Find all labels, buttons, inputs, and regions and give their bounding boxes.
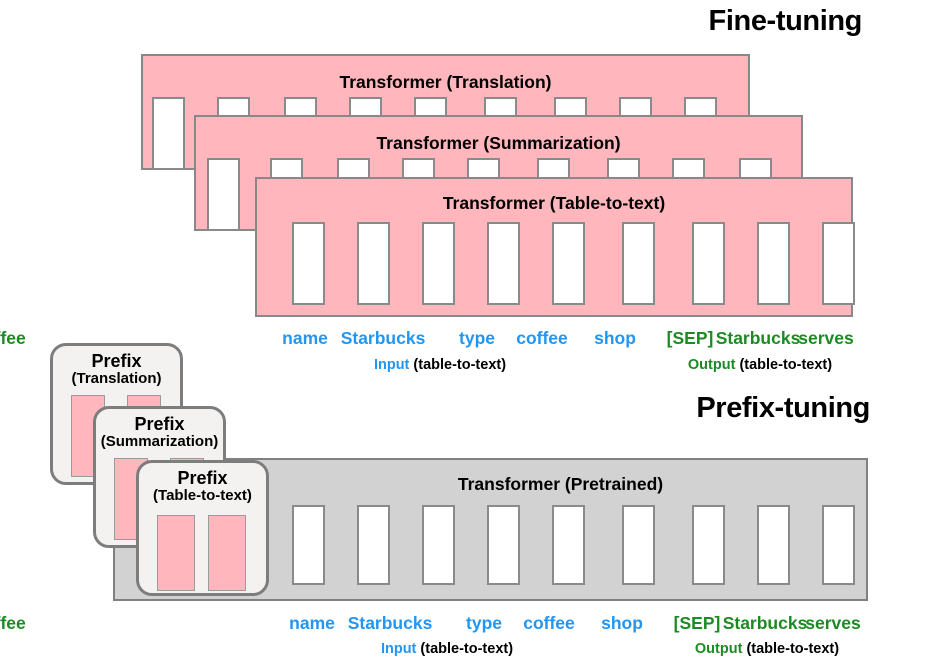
- activation-cell: [357, 505, 390, 585]
- diagram-canvas: Fine-tuning Transformer (Translation) Tr…: [0, 0, 932, 670]
- transformer-box-table-to-text: Transformer (Table-to-text): [255, 177, 853, 317]
- activation-cell: [207, 158, 240, 231]
- output-caption: Output (table-to-text): [688, 357, 832, 373]
- fine-tuning-title: Fine-tuning: [709, 5, 862, 38]
- input-caption: Input (table-to-text): [381, 641, 513, 657]
- prefix-card-title-table-to-text: Prefix (Table-to-text): [139, 469, 266, 503]
- transformer-label-pretrained: Transformer (Pretrained): [255, 474, 866, 495]
- output-caption-key: Output: [695, 641, 743, 657]
- activation-cell: [822, 505, 855, 585]
- input-caption-key: Input: [381, 641, 416, 657]
- prefix-title-text: Prefix: [139, 469, 266, 488]
- prefix-task-text: (Summarization): [96, 434, 223, 450]
- activation-cell: [692, 222, 725, 305]
- activation-cell: [422, 505, 455, 585]
- output-caption-sub: (table-to-text): [742, 641, 839, 657]
- transformer-label-table-to-text: Transformer (Table-to-text): [257, 193, 851, 214]
- activation-cell: [152, 97, 185, 170]
- input-token: coffee: [516, 328, 568, 349]
- activation-cell: [692, 505, 725, 585]
- output-caption-sub: (table-to-text): [735, 357, 832, 373]
- transformer-label-translation: Transformer (Translation): [143, 72, 748, 93]
- prefix-task-text: (Table-to-text): [139, 488, 266, 504]
- prefix-tuning-title: Prefix-tuning: [696, 392, 870, 425]
- prefix-card-table-to-text: Prefix (Table-to-text): [136, 460, 269, 596]
- activation-cell: [822, 222, 855, 305]
- activation-cell: [622, 222, 655, 305]
- input-token: name: [289, 613, 335, 634]
- input-token: coffee: [523, 613, 575, 634]
- output-token: coffee: [0, 613, 26, 634]
- output-caption-key: Output: [688, 357, 736, 373]
- caption-row-prefix-tuning: Input (table-to-text)Output (table-to-te…: [0, 641, 932, 661]
- input-token: type: [459, 328, 495, 349]
- input-token: Starbucks: [341, 328, 426, 349]
- input-token: type: [466, 613, 502, 634]
- input-token: Starbucks: [348, 613, 433, 634]
- output-caption: Output (table-to-text): [695, 641, 839, 657]
- input-token: name: [282, 328, 328, 349]
- activation-cell: [757, 505, 790, 585]
- prefix-card-title-summarization: Prefix (Summarization): [96, 415, 223, 449]
- token-row-fine-tuning: nameStarbuckstypecoffeeshop[SEP]Starbuck…: [0, 328, 932, 352]
- output-token: coffee: [0, 328, 26, 349]
- prefix-activation-bar: [208, 515, 246, 591]
- activation-cell: [422, 222, 455, 305]
- input-caption-sub: (table-to-text): [409, 357, 506, 373]
- activation-cell: [487, 222, 520, 305]
- activation-cell: [757, 222, 790, 305]
- input-caption-sub: (table-to-text): [416, 641, 513, 657]
- output-token: Starbucks: [723, 613, 808, 634]
- output-token: [SEP]: [674, 613, 721, 634]
- output-token: serves: [798, 328, 853, 349]
- caption-row-fine-tuning: Input (table-to-text)Output (table-to-te…: [0, 357, 932, 377]
- activation-cell: [552, 505, 585, 585]
- token-row-prefix-tuning: nameStarbuckstypecoffeeshop[SEP]Starbuck…: [0, 613, 932, 637]
- activation-cell: [357, 222, 390, 305]
- output-token: [SEP]: [667, 328, 714, 349]
- output-token: serves: [805, 613, 860, 634]
- input-caption-key: Input: [374, 357, 409, 373]
- input-token: shop: [601, 613, 643, 634]
- prefix-title-text: Prefix: [96, 415, 223, 434]
- input-token: shop: [594, 328, 636, 349]
- activation-cell: [487, 505, 520, 585]
- activation-cell: [292, 505, 325, 585]
- transformer-label-summarization: Transformer (Summarization): [196, 133, 801, 154]
- input-caption: Input (table-to-text): [374, 357, 506, 373]
- activation-cell: [622, 505, 655, 585]
- activation-cell: [292, 222, 325, 305]
- activation-cell: [552, 222, 585, 305]
- prefix-activation-bar: [157, 515, 195, 591]
- output-token: Starbucks: [716, 328, 801, 349]
